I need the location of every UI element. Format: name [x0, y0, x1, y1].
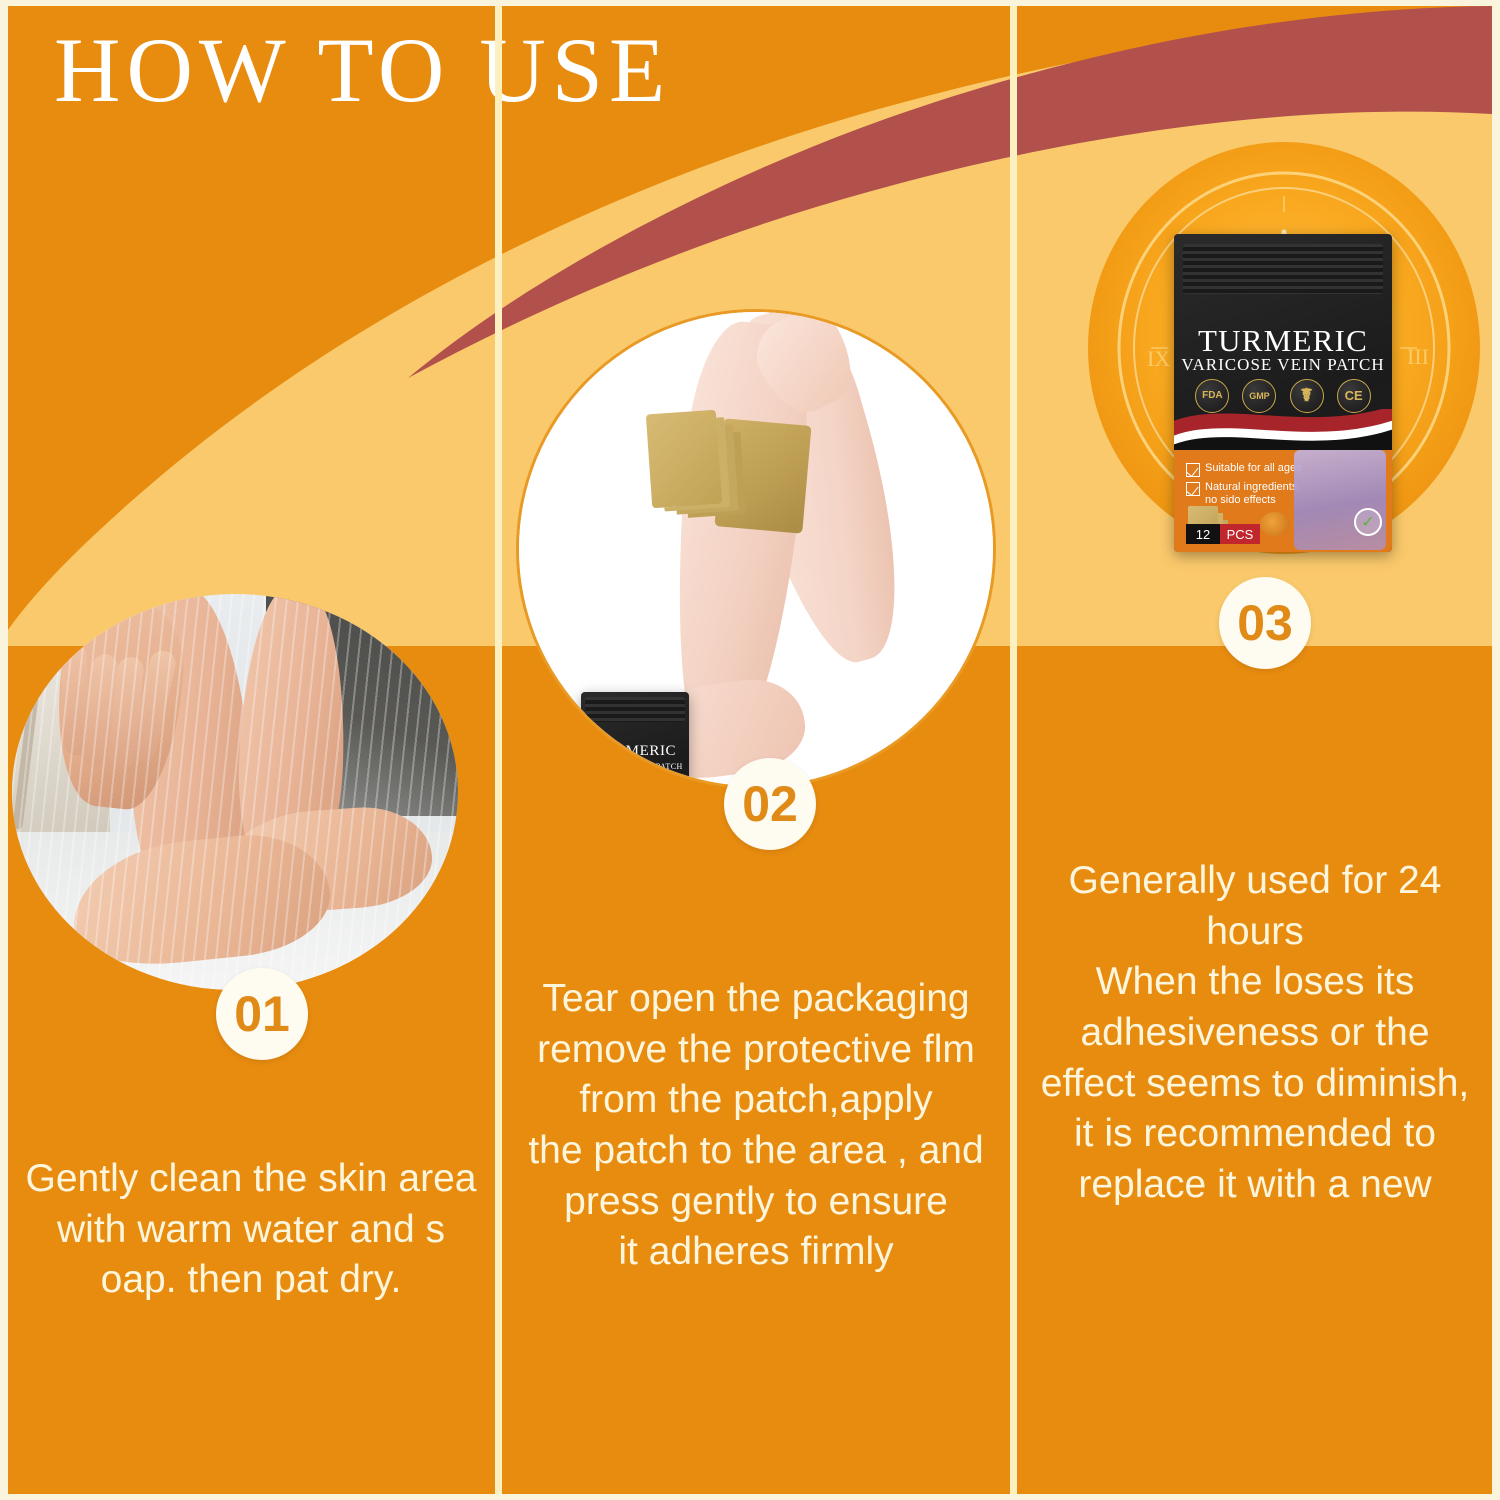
column-divider-1	[495, 6, 502, 1494]
step-number-badge-01: 01	[216, 968, 308, 1060]
step-caption-01: Gently clean the skin area with warm wat…	[18, 1154, 484, 1306]
caduceus-badge-icon: ☤	[638, 775, 655, 786]
step-column-2: TURMERIC VARICOSE VEIN PATCH FDA GMP ☤ C…	[502, 6, 1010, 1494]
fda-badge-icon: FDA	[1195, 379, 1229, 413]
package-brand-small: TURMERIC	[581, 743, 689, 760]
step-column-1: 01 Gently clean the skin area with warm …	[8, 6, 495, 1494]
column-divider-2	[1010, 6, 1017, 1494]
package-bullet-2-large: Natural ingredients, no sido effects	[1205, 481, 1300, 507]
checkmark-circle-icon: ✓	[1354, 508, 1382, 536]
package-bullet-1-large: Suitable for all ages	[1205, 462, 1302, 475]
gmp-badge-icon: GMP	[1242, 379, 1276, 413]
step-caption-02: Tear open the packaging remove the prote…	[516, 974, 996, 1278]
package-unit-large: PCS	[1220, 524, 1260, 544]
step-column-3: II III IV X IX TURMERIC VARICOSE VEIN	[1017, 6, 1492, 1494]
package-subtitle-large: VARICOSE VEIN PATCH	[1174, 355, 1392, 375]
infographic-page: HOW TO USE	[0, 0, 1500, 1500]
package-brand-large: TURMERIC	[1174, 323, 1392, 359]
step-number-badge-02: 02	[724, 758, 816, 850]
turmeric-root-illustration	[1260, 512, 1290, 536]
product-package-large: TURMERIC VARICOSE VEIN PATCH FDA GMP ☤ C…	[1174, 234, 1392, 552]
package-count-large: 12	[1186, 524, 1220, 544]
caduceus-badge-icon: ☤	[1290, 379, 1324, 413]
svg-text:III: III	[1407, 344, 1429, 369]
step-number-badge-03: 03	[1219, 577, 1311, 669]
package-subtitle-small: VARICOSE VEIN PATCH	[581, 762, 689, 771]
gmp-badge-icon: GMP	[615, 775, 632, 786]
ce-badge-icon: CE	[662, 775, 679, 786]
product-package-small: TURMERIC VARICOSE VEIN PATCH FDA GMP ☤ C…	[581, 692, 689, 786]
feet-in-shower-photo	[12, 594, 458, 990]
checkbox-icon	[1186, 463, 1200, 477]
svg-text:IX: IX	[1147, 346, 1170, 371]
step-caption-03: Generally used for 24 hours When the los…	[1022, 856, 1488, 1211]
fda-badge-icon: FDA	[591, 775, 608, 786]
orange-field: HOW TO USE	[8, 6, 1492, 1494]
ce-badge-icon: CE	[1337, 379, 1371, 413]
legs-with-patch-applied-photo: TURMERIC VARICOSE VEIN PATCH FDA GMP ☤ C…	[519, 312, 993, 786]
checkbox-icon	[1186, 482, 1200, 496]
